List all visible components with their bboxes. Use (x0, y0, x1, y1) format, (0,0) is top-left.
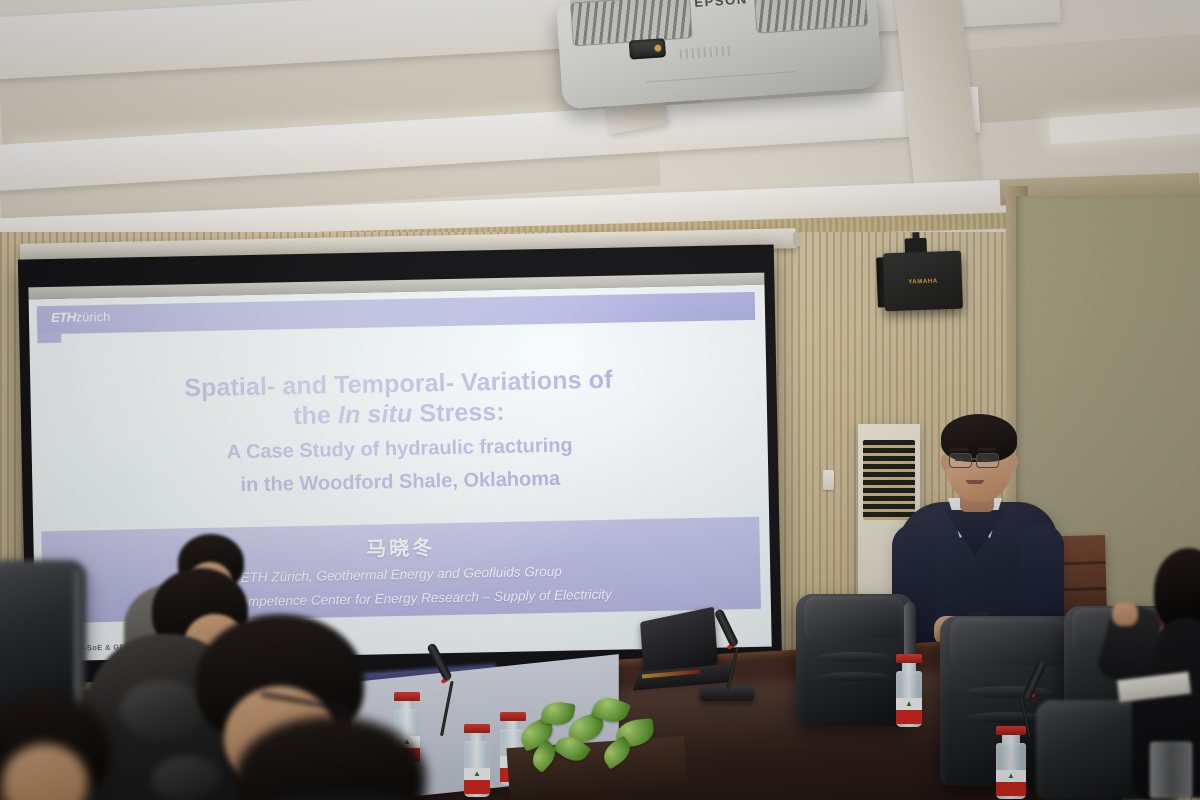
bottle-cap (394, 692, 420, 701)
title-pre: the (293, 401, 338, 430)
bottle-cap (996, 726, 1026, 735)
bottle-label (996, 770, 1026, 796)
water-bottle[interactable] (464, 724, 490, 797)
glasses-icon (976, 453, 999, 468)
glasses-bridge (972, 458, 978, 460)
chair-headrest (950, 618, 1066, 666)
glasses-icon (949, 453, 972, 468)
bottle-label (896, 698, 922, 724)
potted-plant (516, 694, 666, 780)
bottle-cap (896, 654, 922, 663)
wall-switch (823, 470, 834, 490)
projector-brand-label: EPSON (694, 0, 748, 10)
person-hand (1112, 602, 1138, 626)
projector-logo-mark (679, 46, 732, 60)
presenter-ear (1009, 454, 1018, 470)
bottle-neck (902, 663, 916, 671)
projector-vent (754, 0, 869, 34)
jacket-highlight (120, 680, 206, 740)
title-emphasis: In situ (338, 399, 413, 428)
water-bottle[interactable] (996, 726, 1026, 799)
presenter-mouth (966, 480, 984, 484)
bottle-label (464, 768, 490, 794)
eth-logo-light: zürich (76, 310, 111, 325)
slide-header-tab (37, 334, 61, 343)
slide-header-band: ETHzürich (37, 292, 755, 334)
plant-leaf (541, 700, 576, 727)
chair-crease (964, 686, 1052, 698)
bottle-cap (464, 724, 490, 733)
jacket-highlight (152, 756, 222, 800)
eth-zurich-logo: ETHzürich (51, 310, 111, 325)
glass-cup (1150, 742, 1192, 798)
slide-subtitle-line-2: in the Woodford Shale, Oklahoma (70, 462, 730, 501)
laptop[interactable] (636, 614, 732, 686)
conference-room-photo: EPSON YAMAHA ETHzürich Spatial- and Temp… (0, 0, 1200, 800)
slide-subtitle-line-1: A Case Study of hydraulic fracturing (70, 429, 730, 468)
slide-title-block: Spatial- and Temporal- Variations of the… (68, 363, 730, 501)
chair-crease (818, 652, 892, 662)
projector-lens-icon (629, 38, 666, 59)
bottle-neck (400, 701, 414, 709)
eth-logo-bold: ETH (51, 309, 76, 324)
water-bottle[interactable] (896, 654, 922, 727)
bottle-neck (1002, 735, 1020, 743)
chair-headrest (804, 596, 904, 638)
chair-crease (820, 672, 890, 681)
wall-speaker: YAMAHA (883, 251, 963, 312)
presenter-eyebrow (978, 448, 996, 451)
bottle-neck (470, 733, 484, 741)
presenter-eyebrow (950, 448, 968, 451)
title-post: Stress: (412, 397, 505, 427)
projector-seam (646, 71, 796, 82)
speaker-brand-label: YAMAHA (908, 279, 938, 286)
projector-body: EPSON (556, 0, 882, 109)
speaker-box: YAMAHA (883, 251, 963, 312)
